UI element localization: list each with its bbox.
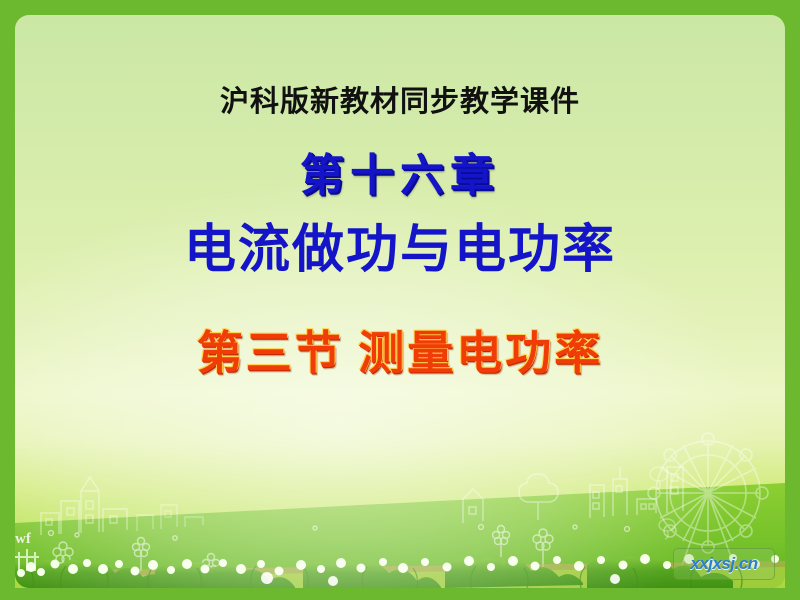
blossom-cluster — [17, 554, 779, 577]
balloon-outline-icon — [650, 467, 675, 539]
watermark-label: xxjxsj.cn — [690, 554, 757, 574]
slide-subtitle: 沪科版新教材同步教学课件 — [15, 85, 785, 119]
watermark-badge: xxjxsj.cn — [673, 548, 775, 580]
city-skyline-mid-icon — [137, 505, 203, 531]
city-skyline-right-icon — [463, 467, 683, 523]
flower-outline-icon — [49, 525, 630, 573]
corner-mark-label: wf — [15, 531, 31, 548]
slide-chapter-heading: 第十六章 — [15, 150, 785, 202]
grass-flower-band — [15, 554, 785, 588]
city-skyline-left-icon — [41, 477, 127, 535]
slide-main-title: 电流做功与电功率 — [15, 220, 785, 282]
ground-plane — [15, 483, 785, 588]
fence-outline-icon — [15, 549, 39, 571]
slide-canvas: 沪科版新教材同步教学课件 第十六章 电流做功与电功率 第三节 测量电功率 xxj… — [15, 15, 785, 588]
slide-section-heading: 第三节 测量电功率 — [15, 325, 785, 383]
presentation-slide: 沪科版新教材同步教学课件 第十六章 电流做功与电功率 第三节 测量电功率 xxj… — [0, 0, 800, 600]
